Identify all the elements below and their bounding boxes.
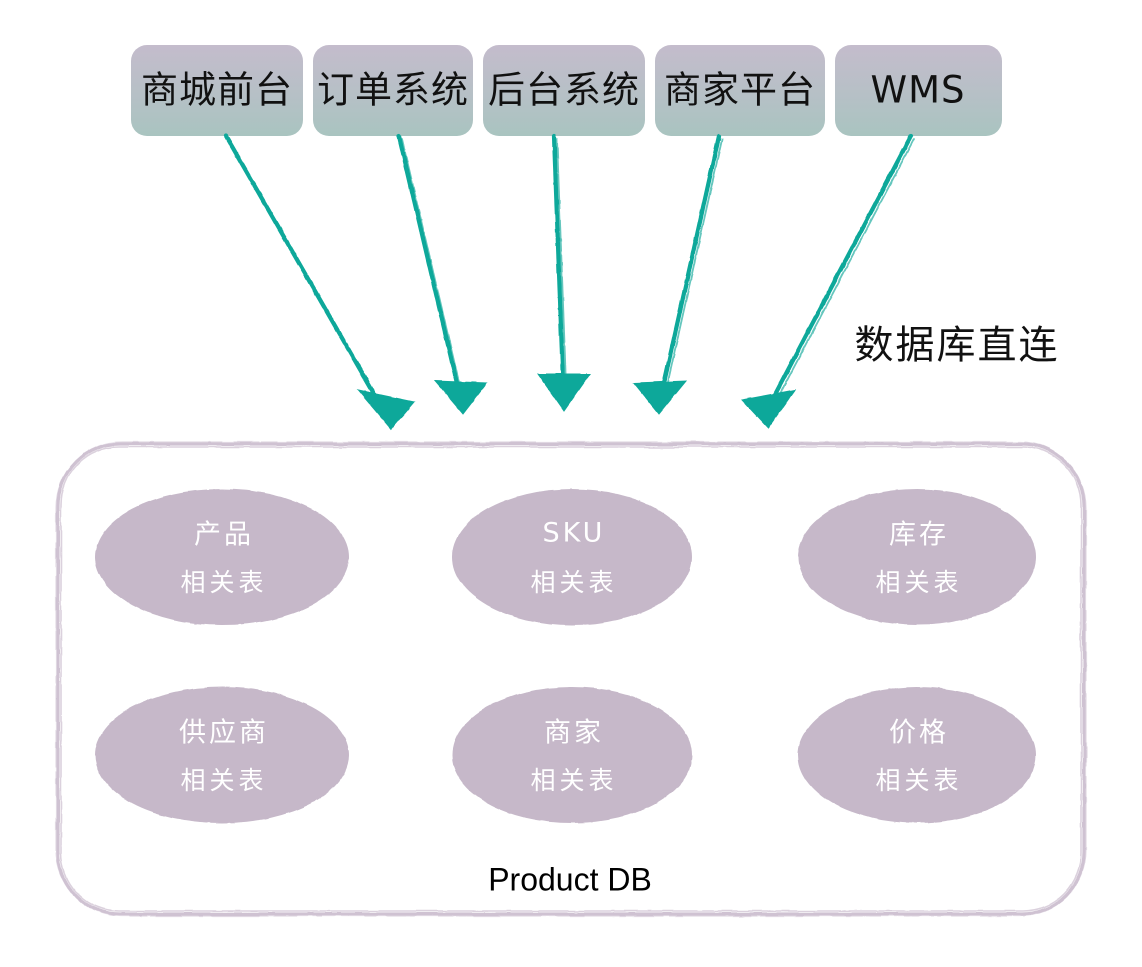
direct-db-connection-label: 数据库直连 — [854, 324, 1059, 369]
db-table-subtitle: 相关表 — [530, 766, 617, 795]
source-systems-row: 商城前台 订单系统 后台系统 商家平台 WMS — [131, 45, 1002, 136]
database-table-groups: 产品 相关表 SKU 相关表 库存 相关表 供应商 相关表 商家 — [95, 489, 1036, 823]
arrow-backend-system — [538, 136, 590, 411]
diagram-canvas: 商城前台 订单系统 后台系统 商家平台 WMS — [0, 0, 1142, 967]
arrow-mall-frontend — [226, 136, 414, 429]
db-table-title: 商家 — [544, 718, 604, 749]
db-table-stock-tables[interactable]: 库存 相关表 — [798, 489, 1036, 625]
db-table-price-tables[interactable]: 价格 相关表 — [798, 687, 1036, 823]
db-table-sku-tables[interactable]: SKU 相关表 — [452, 489, 692, 625]
db-table-title: 供应商 — [179, 718, 269, 749]
arrow-wms — [742, 136, 914, 428]
db-table-subtitle: 相关表 — [875, 766, 962, 795]
db-table-merchant-tables[interactable]: 商家 相关表 — [452, 687, 692, 823]
db-table-subtitle: 相关表 — [180, 766, 267, 795]
db-table-title: 库存 — [889, 520, 949, 551]
source-box-label: 后台系统 — [488, 69, 640, 112]
db-table-title: SKU — [543, 518, 606, 549]
source-box-wms[interactable]: WMS — [835, 45, 1002, 136]
connection-arrows — [226, 136, 914, 429]
db-table-subtitle: 相关表 — [875, 568, 962, 597]
arrow-merchant-platform — [634, 136, 722, 414]
architecture-diagram: 商城前台 订单系统 后台系统 商家平台 WMS — [0, 0, 1142, 967]
source-box-order-system[interactable]: 订单系统 — [313, 45, 473, 136]
product-db-caption: Product DB — [488, 861, 652, 897]
db-table-title: 产品 — [194, 520, 254, 551]
source-box-mall-frontend[interactable]: 商城前台 — [131, 45, 303, 136]
arrow-order-system — [399, 136, 487, 414]
db-table-subtitle: 相关表 — [530, 568, 617, 597]
source-box-label: 订单系统 — [317, 69, 469, 112]
db-table-supplier-tables[interactable]: 供应商 相关表 — [95, 687, 349, 823]
db-table-product-tables[interactable]: 产品 相关表 — [95, 489, 349, 625]
db-table-title: 价格 — [889, 718, 949, 749]
db-table-subtitle: 相关表 — [180, 568, 267, 597]
source-box-merchant-platform[interactable]: 商家平台 — [655, 45, 825, 136]
source-box-label: 商家平台 — [664, 69, 816, 112]
source-box-label: 商城前台 — [141, 69, 293, 112]
source-box-label: WMS — [871, 69, 966, 112]
source-box-backend-system[interactable]: 后台系统 — [483, 45, 645, 136]
